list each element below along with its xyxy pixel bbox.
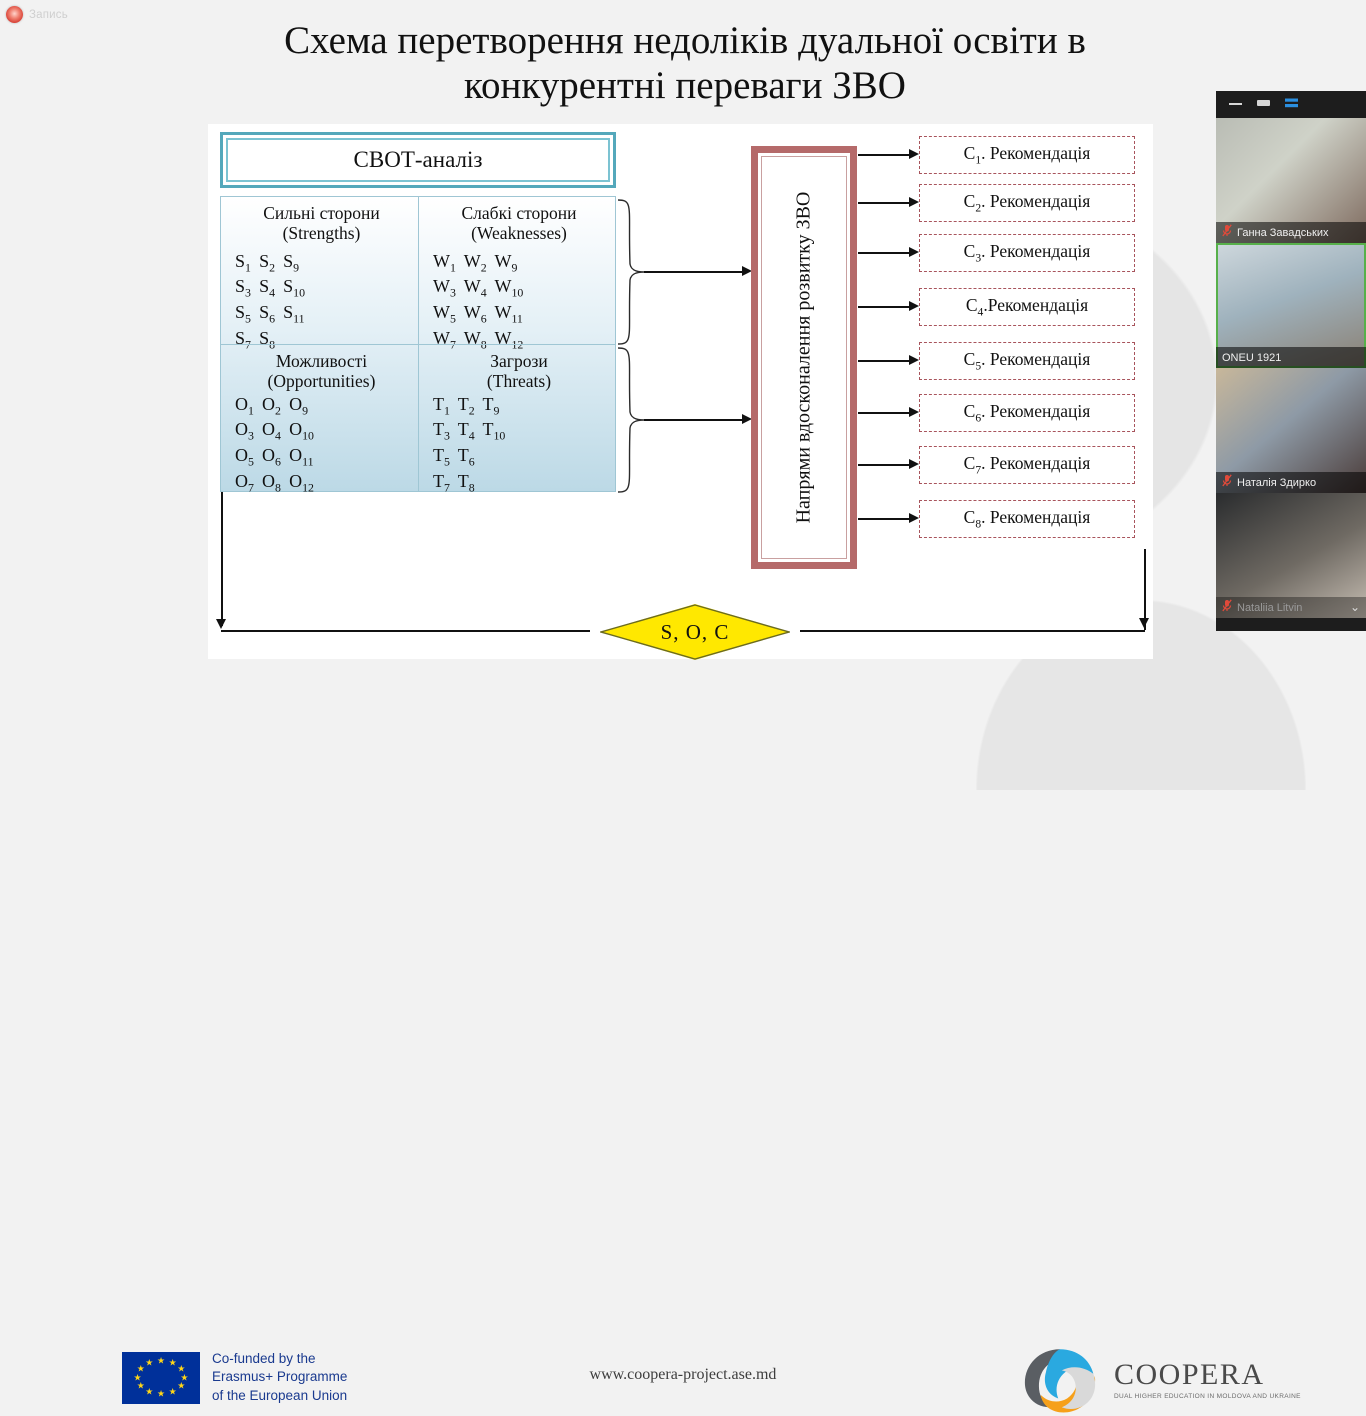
swot-title-inner: СВОТ-аналіз: [226, 138, 610, 182]
swot-item-row: T5 T6: [433, 444, 505, 470]
chevron-down-icon[interactable]: ⌄: [1350, 600, 1360, 615]
mic-muted-icon[interactable]: [1222, 599, 1232, 617]
swot-item: T1: [433, 394, 450, 414]
recommendation-label: C8. Рекомендація: [964, 507, 1091, 531]
coopera-subtitle: DUAL HIGHER EDUCATION IN MOLDOVA AND UKR…: [1114, 1393, 1301, 1400]
swot-item: O7: [235, 471, 254, 491]
recommendation-arrow-line: [858, 464, 911, 466]
quadrant-heading-english: (Opportunities): [268, 371, 376, 391]
swot-item: S5: [235, 302, 251, 322]
minimize-icon[interactable]: [1228, 96, 1244, 114]
recommendation-box: C5. Рекомендація: [919, 342, 1135, 380]
swot-item: S3: [235, 276, 251, 296]
recommendation-label: C1. Рекомендація: [964, 143, 1091, 167]
swot-item: O11: [289, 445, 313, 465]
recommendation-arrow-head: [909, 407, 919, 417]
recommendation-arrow-line: [858, 154, 911, 156]
swot-item: T2: [458, 394, 475, 414]
swot-item: T4: [458, 419, 475, 439]
video-tile[interactable]: Ганна Завадських: [1216, 118, 1366, 243]
feedback-line-bottom-left: [221, 630, 590, 632]
swot-item: W3: [433, 276, 456, 296]
quadrant-heading-english: (Threats): [487, 371, 551, 391]
recommendation-arrow-head: [909, 355, 919, 365]
swot-title-box: СВОТ-аналіз: [220, 132, 616, 188]
recording-indicator: Запись: [6, 6, 68, 23]
video-tile[interactable]: Наталія Здирко: [1216, 368, 1366, 493]
feedback-arrow-right: [1139, 618, 1149, 628]
swot-item-row: O7 O8 O12: [235, 470, 314, 496]
swot-quadrant-weaknesses: Слабкі сторони (Weaknesses) W1 W2 W9W3 W…: [418, 197, 615, 344]
soc-decision-diamond: S, O, C: [600, 604, 790, 660]
quadrant-items: W1 W2 W9W3 W4 W10W5 W6 W11W7 W8 W12: [433, 250, 523, 353]
swot-item: W1: [433, 251, 456, 271]
swot-item: O10: [289, 419, 314, 439]
coopera-logo: COOPERA DUAL HIGHER EDUCATION IN MOLDOVA…: [1016, 1344, 1301, 1416]
recommendation-arrow-head: [909, 149, 919, 159]
arrow-line-lower: [644, 419, 744, 421]
swot-item: W11: [494, 302, 522, 322]
swot-item: T8: [458, 471, 475, 491]
recommendation-arrow-head: [909, 197, 919, 207]
feedback-line-bottom-right: [800, 630, 1145, 632]
video-tile-namebar: ONEU 1921: [1216, 347, 1366, 368]
recommendation-box: C7. Рекомендація: [919, 446, 1135, 484]
diamond-label: S, O, C: [600, 604, 790, 660]
quadrant-items: S1 S2 S9S3 S4 S10S5 S6 S11S7 S8: [235, 250, 305, 353]
recommendation-box: C8. Рекомендація: [919, 500, 1135, 538]
swot-item: S6: [259, 302, 275, 322]
swot-matrix: Сильні сторони (Strengths) S1 S2 S9S3 S4…: [220, 196, 616, 492]
swot-item: S2: [259, 251, 275, 271]
recording-label: Запись: [29, 9, 68, 21]
swot-item: T10: [482, 419, 505, 439]
swot-item-row: T1 T2 T9: [433, 393, 505, 419]
swot-item: T9: [482, 394, 499, 414]
swot-item: O12: [289, 471, 314, 491]
title-line-2: конкурентні переваги ЗВО: [150, 63, 1220, 108]
swot-item-row: W5 W6 W11: [433, 301, 523, 327]
recommendation-label: C6. Рекомендація: [964, 401, 1091, 425]
swot-item-row: W1 W2 W9: [433, 250, 523, 276]
swot-item: W4: [464, 276, 487, 296]
swot-item-row: O5 O6 O11: [235, 444, 314, 470]
quadrant-heading: Загрози (Threats): [487, 351, 551, 392]
development-directions-box: Напрями вдосконалення розвитку ЗВО: [751, 146, 857, 569]
swot-item: S4: [259, 276, 275, 296]
recommendation-arrow-line: [858, 202, 911, 204]
layout-icon[interactable]: [1284, 96, 1300, 114]
quadrant-heading: Сильні сторони (Strengths): [263, 203, 380, 244]
swot-item: W10: [494, 276, 523, 296]
quadrant-heading: Слабкі сторони (Weaknesses): [462, 203, 577, 244]
brace-lower: [616, 346, 646, 494]
eu-line-3: of the European Union: [212, 1387, 347, 1405]
swot-item: O4: [262, 419, 281, 439]
recommendation-box: C3. Рекомендація: [919, 234, 1135, 272]
swot-item: O3: [235, 419, 254, 439]
video-panel-controls: [1216, 91, 1366, 118]
title-line-1: Схема перетворення недоліків дуальної ос…: [150, 18, 1220, 63]
development-directions-label: Напрями вдосконалення розвитку ЗВО: [792, 192, 817, 524]
recommendation-box: C4.Рекомендація: [919, 288, 1135, 326]
quadrant-heading-native: Слабкі сторони: [462, 203, 577, 223]
recommendation-arrow-head: [909, 459, 919, 469]
swot-item: O6: [262, 445, 281, 465]
quadrant-items: T1 T2 T9T3 T4 T10T5 T6T7 T8: [433, 393, 505, 496]
eu-star-icon: ★: [157, 1357, 165, 1366]
video-tile-list: Ганна ЗавадськихONEU 1921Наталія ЗдиркоN…: [1216, 118, 1366, 618]
swot-item: S11: [283, 302, 304, 322]
swot-item: W5: [433, 302, 456, 322]
swot-item: T3: [433, 419, 450, 439]
video-tile-name: Nataliia Litvin: [1237, 602, 1302, 614]
maximize-icon[interactable]: [1256, 96, 1272, 114]
video-tile[interactable]: Nataliia Litvin⌄: [1216, 493, 1366, 618]
swot-item-row: S3 S4 S10: [235, 275, 305, 301]
swot-item-row: T7 T8: [433, 470, 505, 496]
swot-item-row: W3 W4 W10: [433, 275, 523, 301]
swot-item-row: O3 O4 O10: [235, 418, 314, 444]
recommendation-arrow-head: [909, 513, 919, 523]
arrow-line-upper: [644, 271, 744, 273]
swot-item-row: O1 O2 O9: [235, 393, 314, 419]
feedback-arrow-left: [216, 619, 226, 629]
recommendation-arrow-line: [858, 412, 911, 414]
quadrant-heading-english: (Strengths): [263, 223, 380, 243]
coopera-text: COOPERA DUAL HIGHER EDUCATION IN MOLDOVA…: [1114, 1360, 1301, 1400]
record-dot-icon: [6, 6, 23, 23]
recommendation-label: C4.Рекомендація: [966, 295, 1088, 319]
video-tile-name: ONEU 1921: [1222, 352, 1281, 364]
development-directions-inner: Напрями вдосконалення розвитку ЗВО: [761, 156, 847, 559]
recommendation-arrow-line: [858, 306, 911, 308]
swot-item: T7: [433, 471, 450, 491]
quadrant-heading-native: Сильні сторони: [263, 203, 380, 223]
recommendation-arrow-line: [858, 360, 911, 362]
swot-item-row: S5 S6 S11: [235, 301, 305, 327]
recommendation-box: C1. Рекомендація: [919, 136, 1135, 174]
swot-item: W2: [464, 251, 487, 271]
swot-item: S9: [283, 251, 299, 271]
swot-item: S1: [235, 251, 251, 271]
swot-item: T5: [433, 445, 450, 465]
swot-item: S10: [283, 276, 305, 296]
slide-footer: ★★★★★★★★★★★★ Co-funded by the Erasmus+ P…: [0, 672, 1366, 768]
swot-item: W6: [464, 302, 487, 322]
recommendation-box: C6. Рекомендація: [919, 394, 1135, 432]
recommendation-box: C2. Рекомендація: [919, 184, 1135, 222]
swot-item: W9: [494, 251, 517, 271]
eu-star-icon: ★: [157, 1390, 165, 1399]
mic-muted-icon[interactable]: [1222, 474, 1232, 492]
eu-star-icon: ★: [169, 1388, 177, 1397]
diagram-canvas: СВОТ-аналіз Сильні сторони (Strengths) S…: [208, 124, 1153, 659]
quadrant-heading-native: Можливості: [268, 351, 376, 371]
video-tile-name: Ганна Завадських: [1237, 227, 1329, 239]
quadrant-items: O1 O2 O9O3 O4 O10O5 O6 O11O7 O8 O12: [235, 393, 314, 496]
video-tile-namebar: Наталія Здирко: [1216, 472, 1366, 493]
swot-item: O8: [262, 471, 281, 491]
swot-item: O9: [289, 394, 308, 414]
recommendation-arrow-head: [909, 247, 919, 257]
swot-title-label: СВОТ-аналіз: [354, 147, 483, 173]
recommendation-arrow-head: [909, 301, 919, 311]
presentation-slide: Схема перетворення недоліків дуальної ос…: [0, 0, 1366, 768]
mic-muted-icon[interactable]: [1222, 224, 1232, 242]
feedback-line-left-down: [221, 492, 223, 626]
swot-item-row: S1 S2 S9: [235, 250, 305, 276]
coopera-swirl-icon: [1016, 1344, 1104, 1416]
video-tile-name: Наталія Здирко: [1237, 477, 1316, 489]
video-tile[interactable]: ONEU 1921: [1216, 243, 1366, 368]
brace-upper: [616, 198, 646, 346]
recommendation-label: C5. Рекомендація: [964, 349, 1091, 373]
swot-quadrant-opportunities: Можливості (Opportunities) O1 O2 O9O3 O4…: [221, 344, 418, 491]
recommendation-label: C2. Рекомендація: [964, 191, 1091, 215]
recommendation-label: C3. Рекомендація: [964, 241, 1091, 265]
swot-quadrant-strengths: Сильні сторони (Strengths) S1 S2 S9S3 S4…: [221, 197, 418, 344]
swot-item-row: T3 T4 T10: [433, 418, 505, 444]
swot-item: O2: [262, 394, 281, 414]
eu-star-icon: ★: [145, 1388, 153, 1397]
swot-item: O5: [235, 445, 254, 465]
recommendation-arrow-line: [858, 252, 911, 254]
quadrant-heading: Можливості (Opportunities): [268, 351, 376, 392]
video-conference-panel: Ганна ЗавадськихONEU 1921Наталія ЗдиркоN…: [1216, 91, 1366, 631]
video-tile-namebar: Nataliia Litvin⌄: [1216, 597, 1366, 618]
recommendation-label: C7. Рекомендація: [964, 453, 1091, 477]
coopera-name: COOPERA: [1114, 1360, 1301, 1390]
swot-quadrant-threats: Загрози (Threats) T1 T2 T9T3 T4 T10T5 T6…: [418, 344, 615, 491]
quadrant-heading-native: Загрози: [487, 351, 551, 371]
quadrant-heading-english: (Weaknesses): [462, 223, 577, 243]
page-title: Схема перетворення недоліків дуальної ос…: [150, 18, 1220, 108]
swot-item: O1: [235, 394, 254, 414]
recommendation-arrow-line: [858, 518, 911, 520]
swot-item: T6: [458, 445, 475, 465]
video-tile-namebar: Ганна Завадських: [1216, 222, 1366, 243]
